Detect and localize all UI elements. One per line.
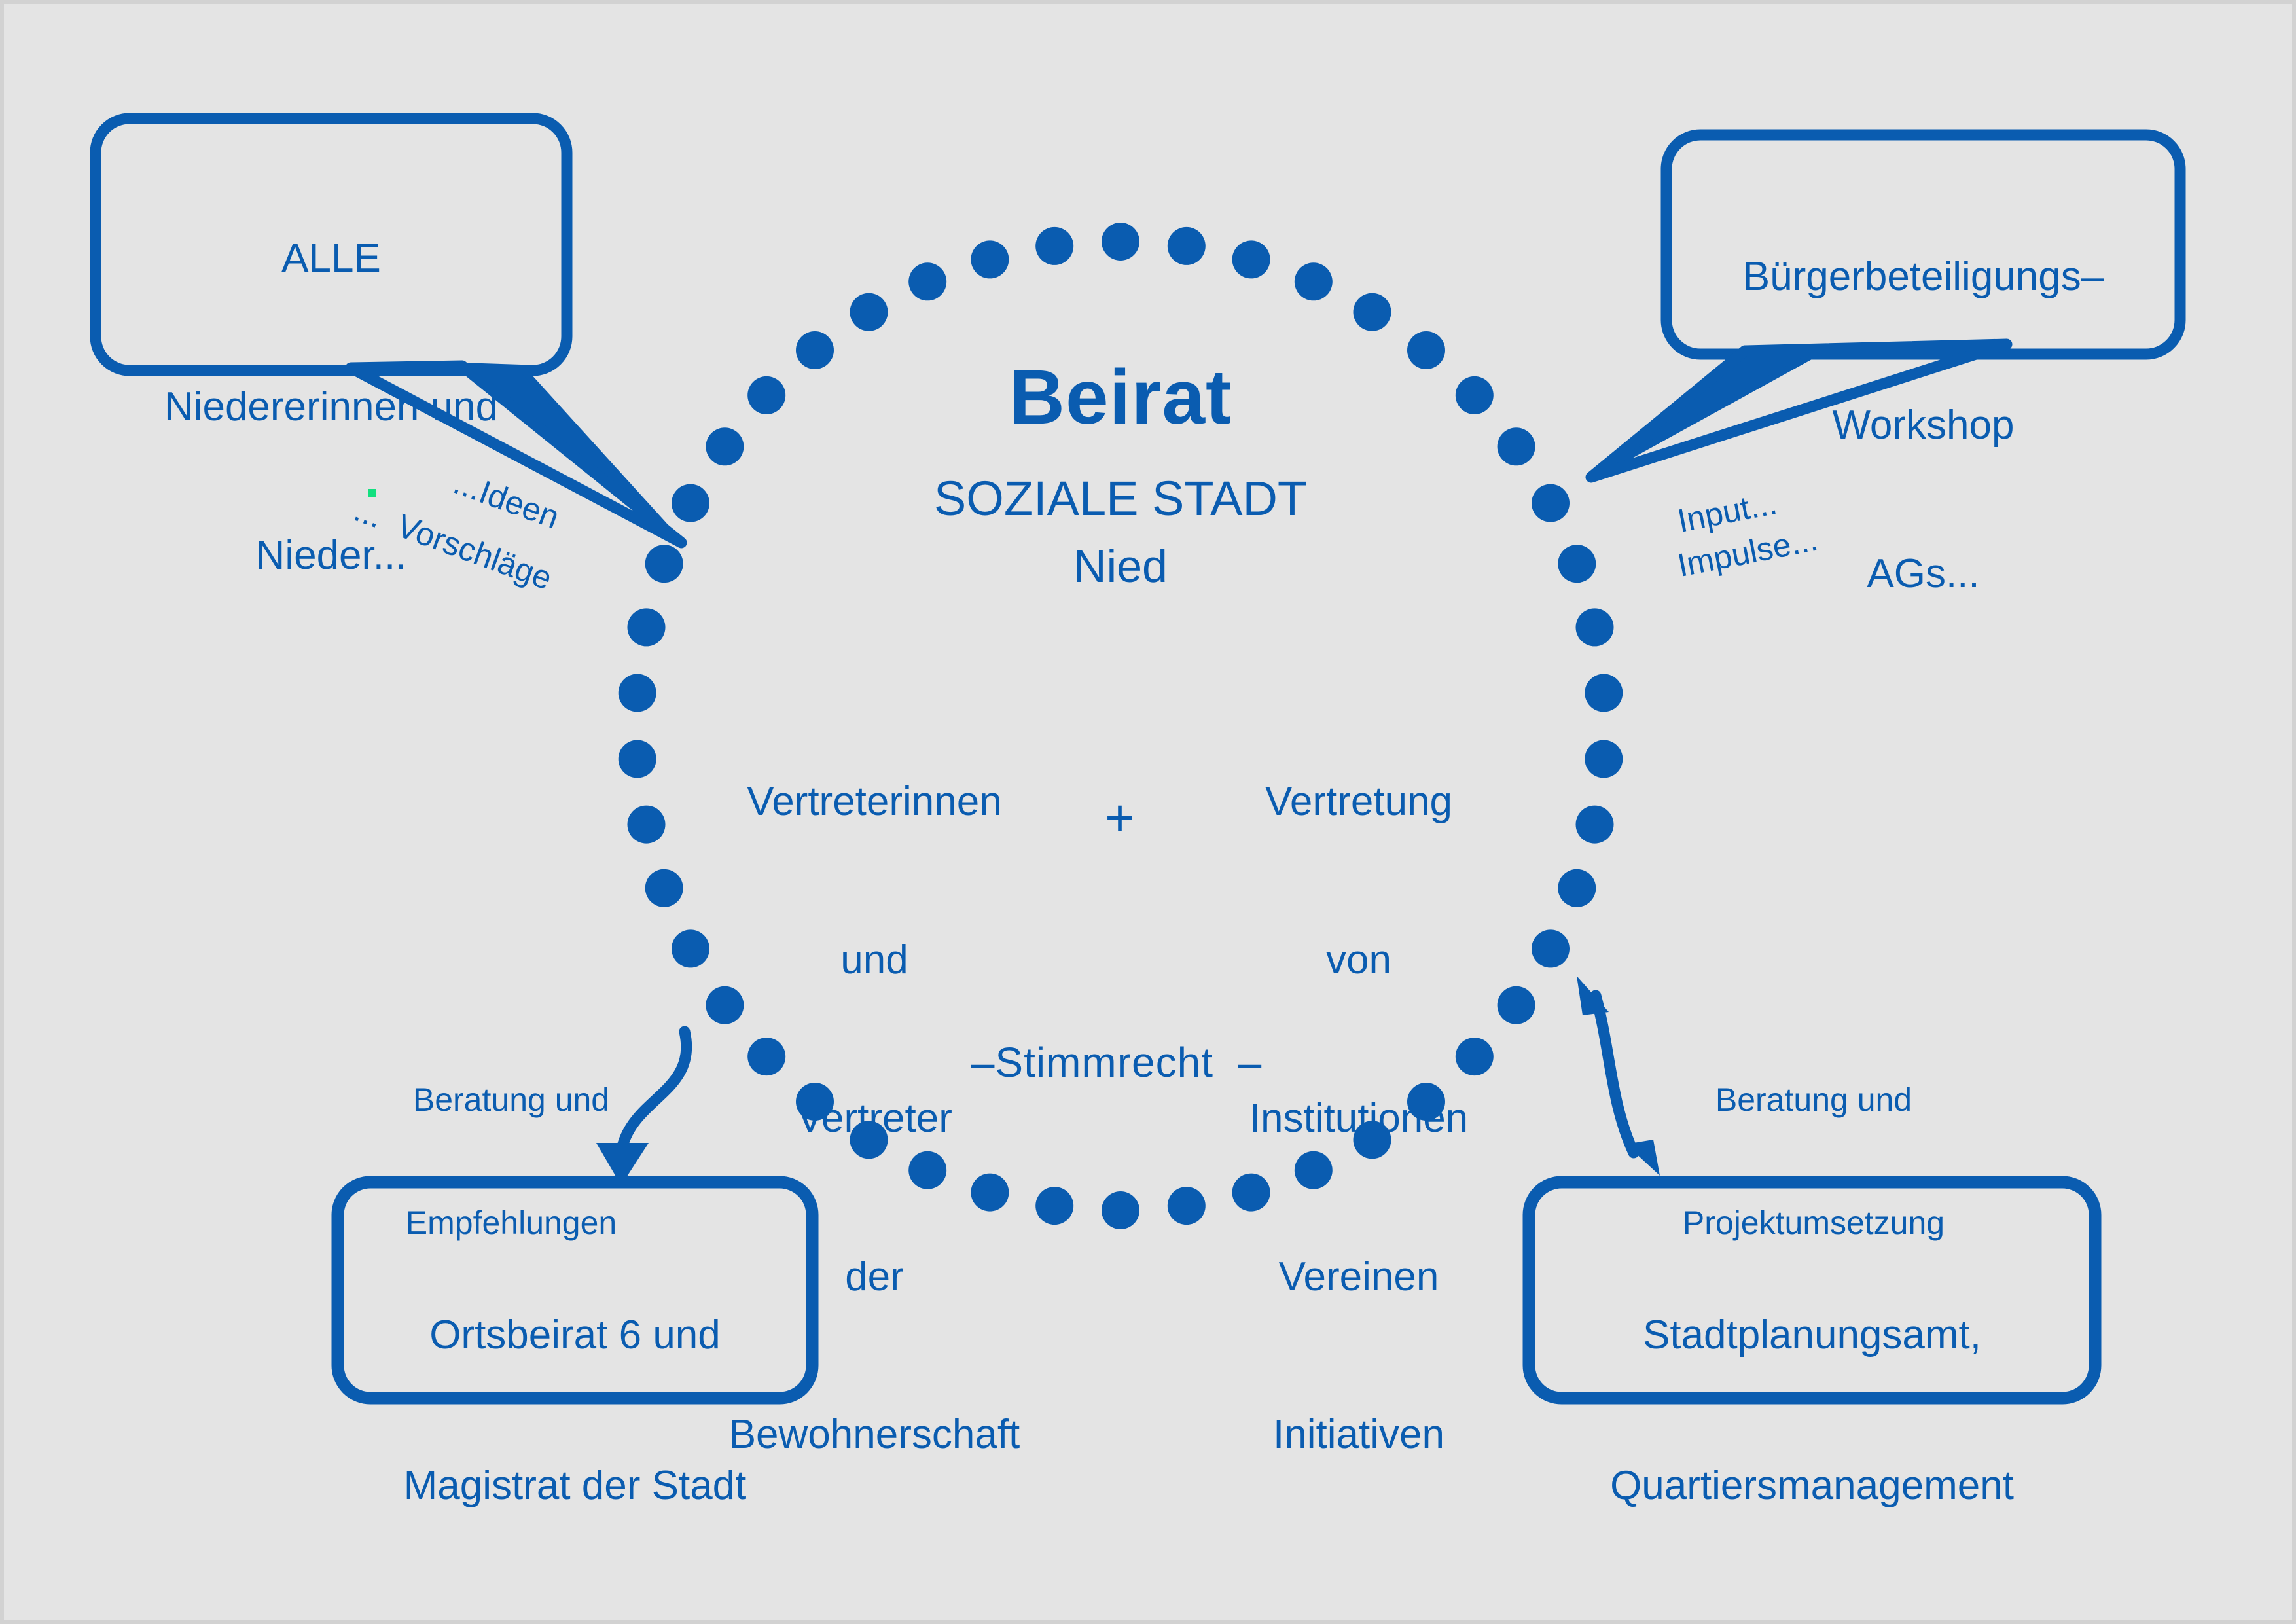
ring-dot — [971, 240, 1009, 278]
ring-dot — [747, 376, 785, 414]
ring-dot — [1168, 227, 1206, 265]
ring-dot — [1456, 376, 1494, 414]
center-subtitle: SOZIALE STADT — [793, 472, 1448, 526]
bubble-top-left-line-2: Niedererinnen und — [96, 382, 567, 432]
center-right-line-2: von — [1175, 934, 1542, 987]
bubble-top-left-line-1: ALLE — [96, 234, 567, 283]
box-bottom-left-line-2: Magistrat der Stadt — [338, 1461, 812, 1511]
center-right-line-4: Vereinen — [1175, 1251, 1542, 1304]
ring-dot — [645, 869, 683, 907]
annotation-left-lower-line-1: Beratung und — [370, 1079, 652, 1121]
ring-dot — [1102, 1191, 1139, 1229]
ring-dot — [1498, 427, 1535, 465]
center-left-line-2: und — [678, 934, 1071, 987]
center-left-line-1: Vertreterinnen — [678, 776, 1071, 829]
ring-dot — [628, 608, 666, 646]
ring-dot — [1035, 227, 1073, 265]
center-left-line-3: Vertreter — [678, 1092, 1071, 1146]
box-bottom-right-text: Stadtplanungsamt, Quartiersmanagement un… — [1529, 1210, 2095, 1624]
box-bottom-right-line-1: Stadtplanungsamt, — [1529, 1310, 2095, 1361]
voting-rights-label: –Stimmrecht – — [888, 1039, 1346, 1087]
ring-dot — [619, 740, 656, 778]
center-right-line-5: Initiativen — [1175, 1409, 1542, 1462]
ring-dot — [1558, 869, 1596, 907]
ring-dot — [1576, 806, 1614, 844]
center-title: Beirat — [793, 354, 1448, 441]
annotation-right-lower-line-1: Beratung und — [1643, 1079, 1984, 1121]
center-right-column: Vertretung von Institutionen Vereinen In… — [1175, 670, 1542, 1567]
ring-dot — [850, 293, 888, 331]
green-marker-dot — [368, 489, 376, 497]
bubble-top-left-text: ALLE Niedererinnen und Nieder... — [96, 135, 567, 679]
box-bottom-left-line-1: Ortsbeirat 6 und — [338, 1310, 812, 1361]
ring-dot — [619, 674, 656, 712]
ring-dot — [1295, 262, 1333, 300]
bubble-top-right-line-1: Bürgerbeteiligungs– — [1666, 252, 2180, 302]
center-right-line-1: Vertretung — [1175, 776, 1542, 829]
ring-dot — [1576, 608, 1614, 646]
center-subtitle-2: Nied — [793, 541, 1448, 592]
bubble-top-right-line-2: Workshop — [1666, 401, 2180, 450]
ring-dot — [1585, 740, 1623, 778]
diagram-stage: ALLE Niedererinnen und Nieder... Bürgerb… — [4, 4, 2292, 1620]
center-right-line-3: Institutionen — [1175, 1092, 1542, 1146]
ring-dot — [706, 427, 744, 465]
plus-sign: + — [1064, 789, 1175, 846]
ring-dot — [1354, 293, 1391, 331]
ring-dot — [1585, 674, 1623, 712]
box-bottom-right-line-2: Quartiersmanagement — [1529, 1461, 2095, 1511]
box-bottom-left-text: Ortsbeirat 6 und Magistrat der Stadt Fra… — [338, 1210, 812, 1624]
diagram-canvas: ALLE Niedererinnen und Nieder... Bürgerb… — [0, 0, 2296, 1624]
ring-dot — [672, 484, 709, 522]
ring-dot — [1558, 545, 1596, 583]
box-bottom-right-line-3: und Projektsteuerung — [1529, 1612, 2095, 1624]
ring-dot — [908, 262, 946, 300]
ring-dot — [1232, 240, 1270, 278]
ring-dot — [1102, 223, 1139, 261]
bubble-top-right-text: Bürgerbeteiligungs– Workshop AGs... — [1666, 153, 2180, 698]
box-bottom-left-line-3: Frankfurt am Main — [338, 1612, 812, 1624]
ring-dot — [1532, 484, 1570, 522]
ring-dot — [628, 806, 666, 844]
